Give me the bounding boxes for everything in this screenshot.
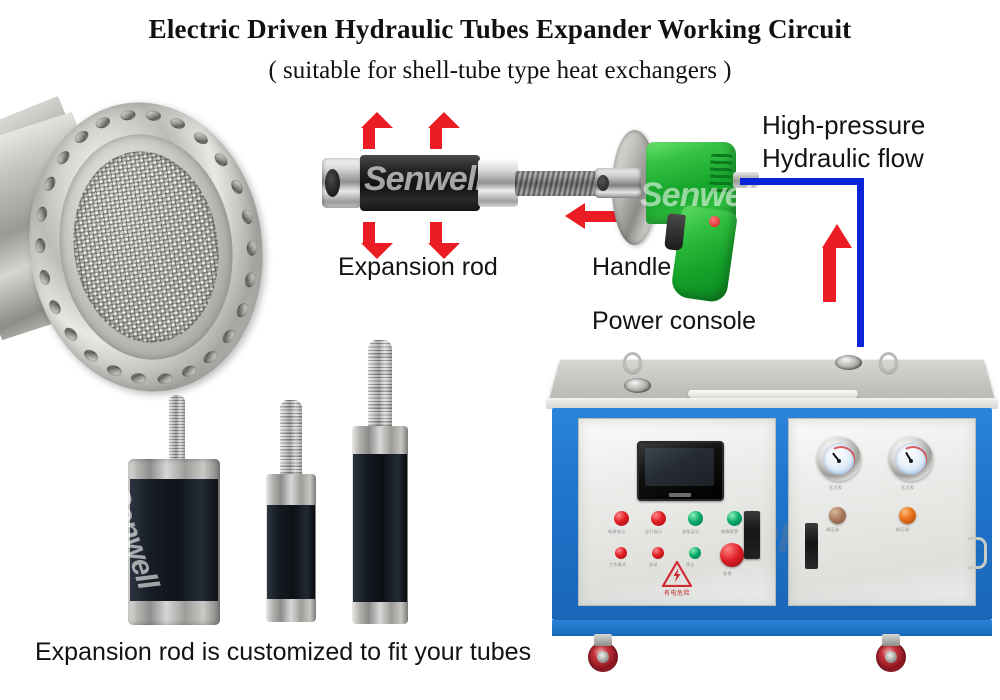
pressure-relief-knob-left[interactable] — [829, 507, 846, 524]
rod-black-sleeve — [267, 505, 315, 599]
pilot-light-run — [651, 511, 666, 526]
label-power-console: Power console — [592, 307, 756, 336]
flange-bolt — [180, 364, 198, 379]
caster-tire — [588, 642, 618, 672]
hydraulic-flow-line-vertical — [857, 178, 864, 347]
rod-black-sleeve — [353, 454, 407, 602]
pilot-label: 油泵运行 — [682, 529, 700, 535]
flange-bolt — [229, 178, 245, 196]
flange-bolt — [240, 208, 254, 225]
pressure-gauge-right — [889, 437, 933, 481]
expansion-rod-small — [352, 340, 408, 624]
handle-trigger[interactable] — [664, 213, 686, 251]
lifting-eye — [623, 352, 642, 373]
caster-fork — [882, 634, 900, 646]
console-right-door[interactable]: 压力表 压力表 调压阀 卸压阀 — [788, 418, 976, 606]
expansion-rod-medium — [266, 400, 316, 622]
flange-bolt — [42, 175, 58, 193]
flange-bolt — [156, 373, 172, 385]
label-handle: Handle — [592, 253, 671, 282]
hmi-screen-surface — [645, 448, 714, 486]
label-high-pressure-line2: Hydraulic flow — [762, 143, 924, 174]
rod-threaded-stem — [280, 400, 302, 480]
flange-bolt — [38, 269, 52, 286]
caster-fork — [594, 634, 612, 646]
arrow-up-icon — [361, 112, 376, 149]
flange-bolt — [212, 151, 230, 169]
push-button-stop[interactable] — [689, 547, 701, 559]
caster-wheel — [588, 642, 618, 672]
gauge-face — [895, 443, 927, 475]
gauge-label: 压力表 — [901, 485, 914, 491]
pilot-light-power — [614, 511, 629, 526]
rod-chrome-cap-right — [478, 159, 518, 207]
flange-bolt — [192, 130, 210, 147]
gauge-pin — [909, 459, 913, 463]
flange-bolt — [72, 129, 90, 146]
push-button-mode[interactable] — [615, 547, 627, 559]
flange-bolt — [36, 206, 49, 223]
pressure-gauge-left — [817, 437, 861, 481]
flange-bolt — [94, 115, 112, 130]
pilot-light-alarm — [727, 511, 742, 526]
pilot-label: 故障报警 — [721, 529, 739, 535]
gauge-pin — [837, 459, 841, 463]
gauge-face — [823, 443, 855, 475]
page-subtitle: ( suitable for shell-tube type heat exch… — [0, 57, 1000, 85]
flange-bolt — [202, 348, 220, 365]
flange-bolt — [234, 301, 250, 319]
caster-hub — [885, 651, 897, 663]
pilot-label: 运行指示 — [645, 529, 663, 535]
flange-bolt — [35, 238, 45, 253]
caption-bottom: Expansion rod is customized to fit your … — [35, 638, 531, 667]
console-cabinet: Senwell 电源指示 运行指示 油泵运行 故障报警 工作模 — [552, 408, 992, 620]
diagram-canvas: Electric Driven Hydraulic Tubes Expander… — [0, 0, 1000, 700]
flange-bolt — [246, 241, 256, 256]
heat-exchanger-illustration — [0, 92, 302, 412]
fill-cap — [624, 378, 651, 393]
gauge-label: 压力表 — [829, 485, 842, 491]
panel-socket-strip — [744, 511, 760, 559]
label-expansion-rod: Expansion rod — [338, 253, 498, 282]
pilot-light-pump — [688, 511, 703, 526]
hmi-logo — [669, 493, 691, 497]
lifting-eye — [879, 352, 898, 373]
flange-bolt — [47, 298, 63, 316]
console-base-frame — [552, 620, 992, 636]
flange-bolt — [243, 272, 256, 289]
door-handle[interactable] — [968, 537, 987, 569]
flange-bolt — [105, 363, 122, 377]
flange-bolt — [82, 347, 100, 364]
push-button-start[interactable] — [652, 547, 664, 559]
flange-bolt — [119, 109, 135, 121]
pressure-relief-knob-right[interactable] — [899, 507, 916, 524]
rod-threaded-stem — [169, 395, 185, 467]
caster-tire — [876, 642, 906, 672]
flange-bolt — [55, 149, 72, 167]
fill-cap — [835, 355, 862, 370]
arrow-up-icon — [822, 224, 837, 302]
knob-label: 卸压阀 — [896, 527, 909, 533]
button-label: 工作模式 — [609, 562, 627, 568]
rod-chrome-cap-left — [322, 158, 362, 208]
electric-hazard-icon: 有电危险 — [653, 561, 701, 597]
emergency-stop-button[interactable] — [720, 543, 744, 567]
rod-threaded-stem — [368, 340, 392, 436]
handle-red-button[interactable] — [709, 216, 720, 227]
console-handle-bar — [688, 390, 858, 398]
pilot-label: 电源指示 — [608, 529, 626, 535]
expansion-rod-large: Senwell — [128, 395, 220, 625]
hydraulic-flow-line-horizontal — [740, 178, 864, 185]
flange-bolt — [62, 325, 80, 343]
expansion-rod-top: Senwell — [322, 152, 572, 214]
panel-socket-strip — [805, 523, 818, 569]
button-label: 急停 — [723, 571, 732, 577]
flange-bolt — [220, 327, 237, 345]
flange-bolt — [145, 110, 161, 121]
hmi-touch-screen[interactable] — [637, 441, 724, 501]
caster-wheel — [876, 642, 906, 672]
console-left-door[interactable]: 电源指示 运行指示 油泵运行 故障报警 工作模式 启动 停止 急停 — [578, 418, 776, 606]
hazard-label: 有电危险 — [653, 588, 701, 597]
power-console-unit: Senwell 电源指示 运行指示 油泵运行 故障报警 工作模 — [546, 346, 998, 686]
knob-label: 调压阀 — [826, 527, 839, 533]
arrow-up-icon — [428, 112, 443, 149]
flange-bolt — [131, 373, 147, 384]
caster-hub — [597, 651, 609, 663]
page-title: Electric Driven Hydraulic Tubes Expander… — [0, 14, 1000, 45]
label-high-pressure-line1: High-pressure — [762, 110, 925, 141]
handle-chuck — [595, 168, 641, 198]
flange-bolt — [169, 116, 186, 130]
